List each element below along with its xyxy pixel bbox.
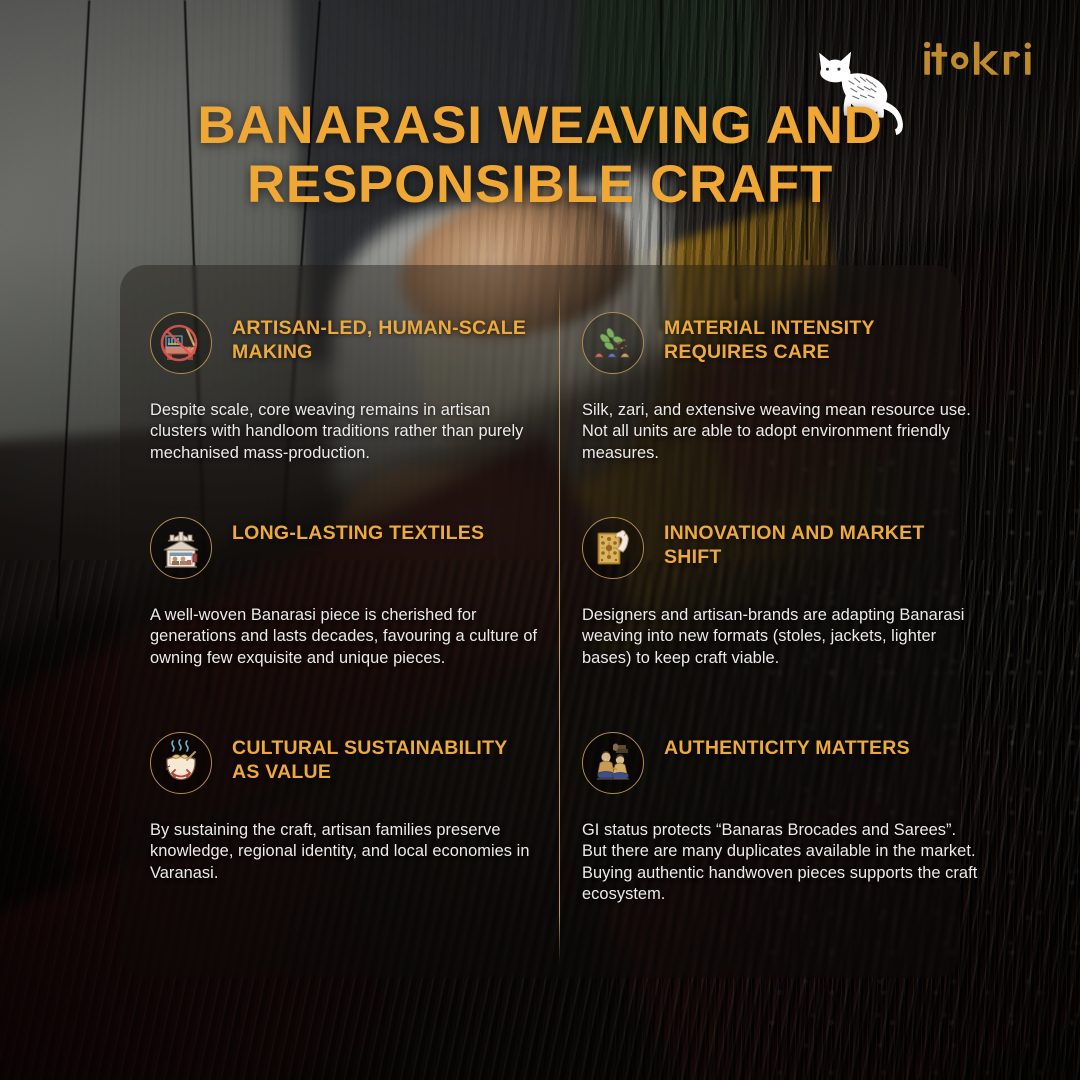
card-long-lasting-textiles: LONG-LASTING TEXTILES A well-woven Banar… <box>150 515 548 669</box>
card-title: MATERIAL INTENSITY REQUIRES CARE <box>664 310 964 365</box>
content-panel: ARTISAN-LED, HUMAN-SCALE MAKING Despite … <box>120 265 960 978</box>
card-header: ARTISAN-LED, HUMAN-SCALE MAKING <box>150 310 548 374</box>
card-body: Designers and artisan-brands are adaptin… <box>582 605 980 669</box>
craft-shop-building-icon <box>150 517 212 579</box>
card-body: Despite scale, core weaving remains in a… <box>150 400 545 464</box>
cards-grid: ARTISAN-LED, HUMAN-SCALE MAKING Despite … <box>120 265 960 978</box>
leaves-and-dye-mounds-icon <box>582 312 644 374</box>
card-title: ARTISAN-LED, HUMAN-SCALE MAKING <box>232 310 532 365</box>
card-material-intensity: MATERIAL INTENSITY REQUIRES CARE Silk, z… <box>582 310 980 464</box>
steaming-dye-pot-icon <box>150 732 212 794</box>
card-body: By sustaining the craft, artisan familie… <box>150 820 545 884</box>
card-title: CULTURAL SUSTAINABILITY AS VALUE <box>232 730 532 785</box>
hand-holding-brocade-swatch-icon <box>582 517 644 579</box>
page-title: BANARASI WEAVING AND RESPONSIBLE CRAFT <box>0 96 1080 215</box>
card-innovation-market-shift: INNOVATION AND MARKET SHIFT Designers an… <box>582 515 980 669</box>
card-header: MATERIAL INTENSITY REQUIRES CARE <box>582 310 980 374</box>
card-body: A well-woven Banarasi piece is cherished… <box>150 605 545 669</box>
card-body: GI status protects “Banaras Brocades and… <box>582 820 980 905</box>
card-header: INNOVATION AND MARKET SHIFT <box>582 515 980 579</box>
card-title: INNOVATION AND MARKET SHIFT <box>664 515 964 570</box>
card-header: LONG-LASTING TEXTILES <box>150 515 548 579</box>
no-power-loom-icon <box>150 312 212 374</box>
card-artisan-led: ARTISAN-LED, HUMAN-SCALE MAKING Despite … <box>150 310 548 464</box>
itokri-logo[interactable] <box>922 36 1042 92</box>
card-header: AUTHENTICITY MATTERS <box>582 730 980 794</box>
card-header: CULTURAL SUSTAINABILITY AS VALUE <box>150 730 548 794</box>
header: BANARASI WEAVING AND RESPONSIBLE CRAFT <box>0 0 1080 250</box>
card-title: LONG-LASTING TEXTILES <box>232 515 484 546</box>
card-cultural-sustainability: CULTURAL SUSTAINABILITY AS VALUE By sust… <box>150 730 548 884</box>
two-seated-artisans-icon <box>582 732 644 794</box>
card-body: Silk, zari, and extensive weaving mean r… <box>582 400 980 464</box>
card-authenticity-matters: AUTHENTICITY MATTERS GI status protects … <box>582 730 980 905</box>
card-title: AUTHENTICITY MATTERS <box>664 730 910 761</box>
